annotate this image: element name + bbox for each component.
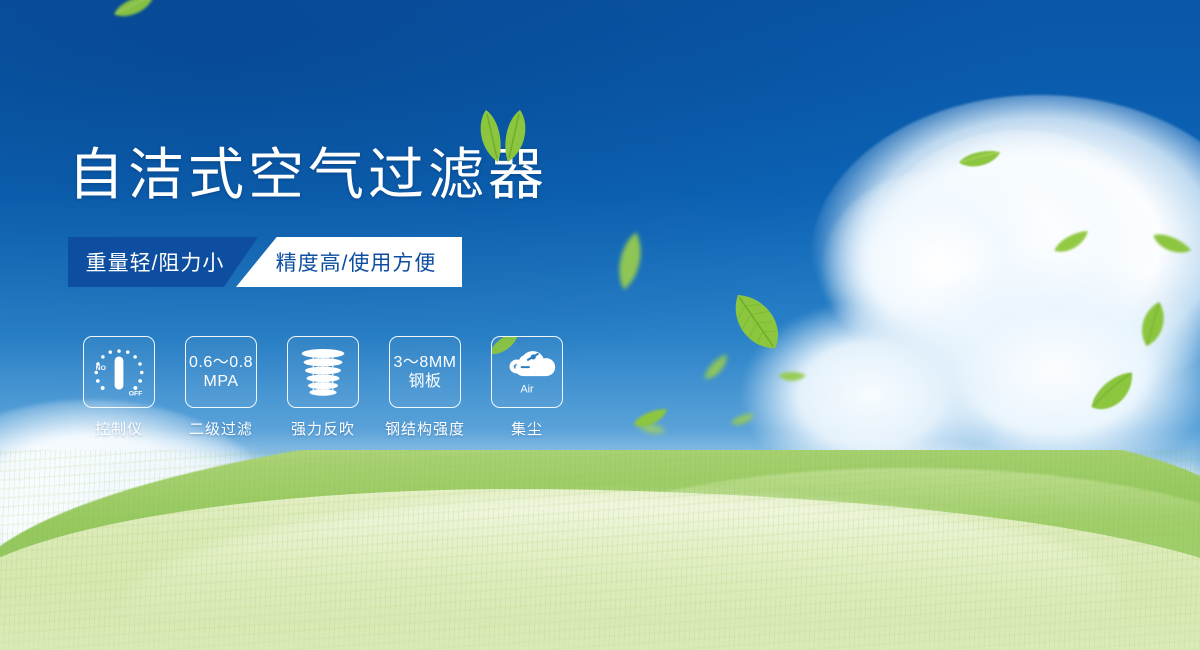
feature-caption: 集尘: [511, 418, 543, 439]
feature-item-control-instrument[interactable]: NO OFF 控制仪: [68, 336, 170, 439]
air-cloud-icon: Air: [491, 336, 563, 408]
feature-item-two-stage-filtration[interactable]: 0.6～0.8 MPA 二级过滤: [170, 336, 272, 439]
pressure-value: 0.6～0.8: [189, 354, 253, 371]
feature-item-steel-structure-strength[interactable]: 3～8MM 钢板 钢结构强度: [374, 336, 476, 439]
feature-caption: 钢结构强度: [385, 418, 465, 439]
air-label: Air: [520, 383, 534, 395]
steel-plate-text-icon: 3～8MM 钢板: [389, 336, 461, 408]
control-dial-icon: NO OFF: [83, 336, 155, 408]
pressure-text-icon: 0.6～0.8 MPA: [185, 336, 257, 408]
sprout-leaves-icon: [470, 108, 534, 164]
pressure-unit: MPA: [189, 372, 253, 391]
svg-text:OFF: OFF: [129, 390, 143, 397]
subtitle-bar: 重量轻/阻力小 精度高/使用方便: [68, 237, 462, 287]
feature-caption: 二级过滤: [189, 418, 253, 439]
steel-thickness: 3～8MM: [394, 354, 457, 371]
svg-text:NO: NO: [96, 365, 106, 372]
air-filter-promo-banner: 自洁式空气过滤器 重量轻/阻力小 精度高/使用方便: [0, 0, 1200, 650]
feature-item-dust-collection[interactable]: Air 集尘: [476, 336, 578, 439]
floating-leaf-icon: [777, 366, 807, 388]
filter-cartridge-icon: [287, 336, 359, 408]
subtitle-left-panel: 重量轻/阻力小: [68, 237, 258, 287]
grass-glow: [0, 530, 1200, 650]
feature-caption: 控制仪: [95, 418, 143, 439]
feature-caption: 强力反吹: [291, 418, 355, 439]
subtitle-right-panel: 精度高/使用方便: [236, 237, 462, 287]
feature-icon-row: NO OFF 控制仪 0.6～0.8 MPA 二级过滤: [68, 336, 578, 439]
feature-item-powerful-blowback[interactable]: 强力反吹: [272, 336, 374, 439]
grass-field: [0, 450, 1200, 650]
steel-material: 钢板: [394, 372, 457, 391]
